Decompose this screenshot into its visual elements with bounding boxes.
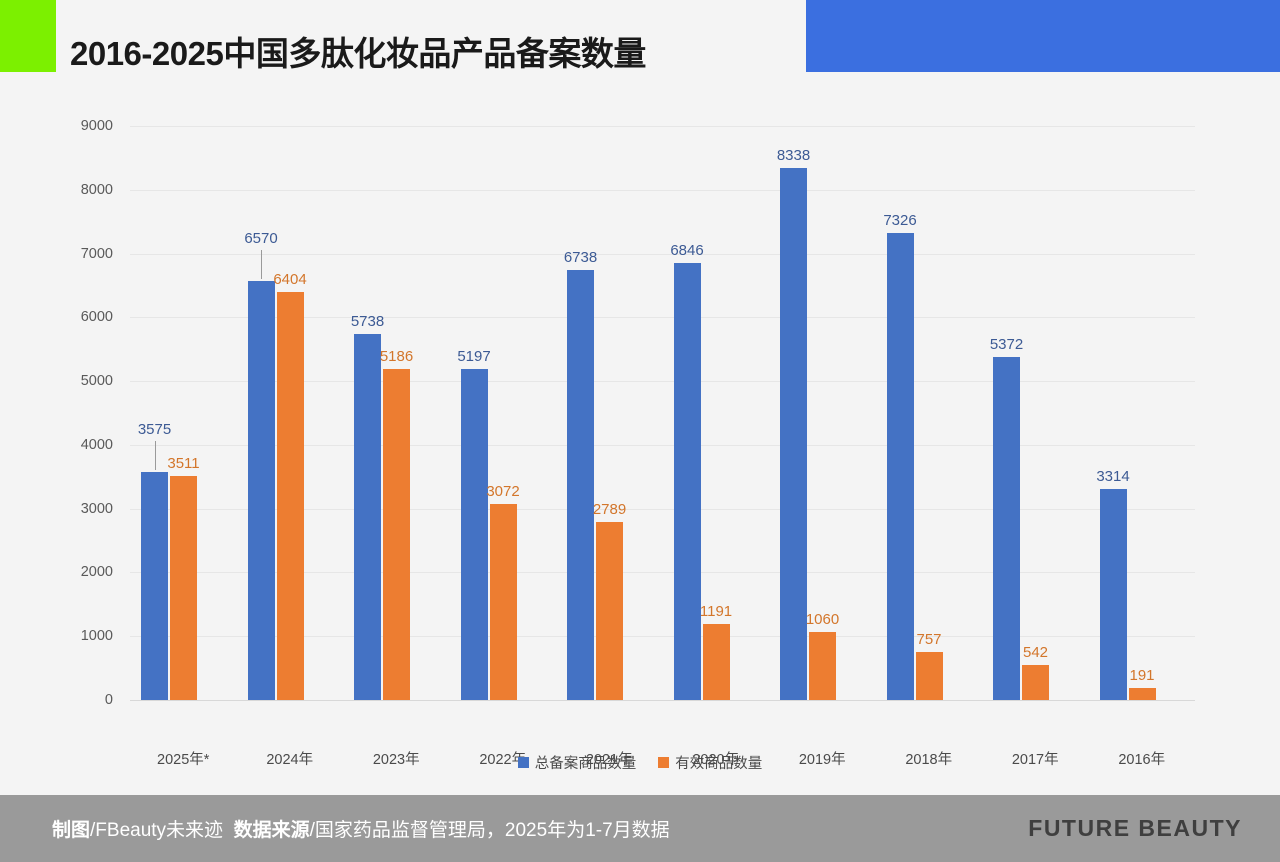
legend-swatch-icon: [658, 757, 669, 768]
bar-total[interactable]: [141, 472, 168, 700]
legend-label: 总备案商品数量: [535, 752, 637, 773]
data-label-total: 5372: [990, 336, 1023, 353]
bar-valid[interactable]: [1022, 665, 1049, 700]
header: 2016-2025中国多肽化妆品产品备案数量: [0, 0, 1280, 86]
y-axis-tick-label: 2000: [53, 564, 113, 580]
y-axis-tick-label: 4000: [53, 437, 113, 453]
data-label-leader-line: [155, 441, 156, 470]
bar-total[interactable]: [887, 233, 914, 700]
data-label-total: 5738: [351, 313, 384, 330]
bar-total[interactable]: [780, 168, 807, 700]
bar-group: [450, 126, 557, 700]
data-label-total: 3575: [138, 421, 171, 438]
bar-valid[interactable]: [809, 632, 836, 700]
footer-credit-value: /FBeauty未来迹: [90, 820, 223, 841]
header-blue-accent-block: [806, 0, 1280, 72]
y-axis-tick-label: 5000: [53, 373, 113, 389]
footer-brand-logo: FUTURE BEAUTY: [1028, 815, 1242, 842]
bar-group: [556, 126, 663, 700]
data-label-valid: 757: [916, 631, 941, 648]
bar-group: [1089, 126, 1196, 700]
bar-group: [982, 126, 1089, 700]
chart-area: 9000800070006000500040003000200010000 35…: [0, 86, 1280, 795]
y-axis-tick-label: 1000: [53, 628, 113, 644]
bar-total[interactable]: [1100, 489, 1127, 700]
bar-series-container: 3575351165706404573851865197307267382789…: [130, 126, 1195, 700]
header-green-accent-block: [0, 0, 56, 72]
data-label-valid: 1191: [700, 603, 732, 620]
data-label-valid: 6404: [273, 271, 306, 288]
data-label-valid: 191: [1129, 667, 1154, 684]
data-label-total: 6738: [564, 249, 597, 266]
gridline: [130, 700, 1195, 701]
footer-credit-text: 制图/FBeauty未来迹 数据来源/国家药品监督管理局，2025年为1-7月数…: [52, 815, 670, 842]
bar-valid[interactable]: [1129, 688, 1156, 700]
footer-credit-label: 制图: [52, 820, 90, 841]
data-label-valid: 542: [1023, 644, 1048, 661]
footer: 制图/FBeauty未来迹 数据来源/国家药品监督管理局，2025年为1-7月数…: [0, 795, 1280, 862]
bar-total[interactable]: [993, 357, 1020, 700]
legend-item[interactable]: 总备案商品数量: [518, 752, 637, 773]
data-label-valid: 3072: [486, 483, 519, 500]
data-label-valid: 2789: [593, 501, 626, 518]
data-label-total: 5197: [457, 348, 490, 365]
data-label-valid: 1060: [806, 611, 839, 628]
data-label-total: 7326: [883, 212, 916, 229]
footer-source-label: 数据来源: [234, 820, 310, 841]
bar-valid[interactable]: [703, 624, 730, 700]
bar-valid[interactable]: [916, 652, 943, 700]
data-label-valid: 3511: [167, 455, 199, 472]
chart-legend: 总备案商品数量有效商品数量: [0, 752, 1280, 773]
legend-swatch-icon: [518, 757, 529, 768]
data-label-total: 8338: [777, 147, 810, 164]
bar-total[interactable]: [674, 263, 701, 700]
bar-total[interactable]: [461, 369, 488, 700]
bar-valid[interactable]: [383, 369, 410, 700]
y-axis-tick-label: 3000: [53, 501, 113, 517]
bar-group: [130, 126, 237, 700]
y-axis-tick-label: 7000: [53, 246, 113, 262]
legend-item[interactable]: 有效商品数量: [658, 752, 762, 773]
data-label-total: 6570: [244, 230, 277, 247]
bar-valid[interactable]: [170, 476, 197, 700]
bar-group: [237, 126, 344, 700]
data-label-leader-line: [261, 250, 262, 279]
y-axis-tick-label: 6000: [53, 309, 113, 325]
bar-group: [343, 126, 450, 700]
data-label-total: 6846: [670, 242, 703, 259]
bar-valid[interactable]: [490, 504, 517, 700]
bar-valid[interactable]: [277, 292, 304, 700]
page-title: 2016-2025中国多肽化妆品产品备案数量: [70, 27, 646, 75]
chart-page: 2016-2025中国多肽化妆品产品备案数量 90008000700060005…: [0, 0, 1280, 862]
bar-total[interactable]: [248, 281, 275, 700]
bar-total[interactable]: [354, 334, 381, 700]
plot-region: 9000800070006000500040003000200010000 35…: [130, 126, 1195, 700]
footer-source-value: /国家药品监督管理局，2025年为1-7月数据: [310, 820, 670, 841]
bar-total[interactable]: [567, 270, 594, 700]
legend-label: 有效商品数量: [675, 752, 762, 773]
y-axis-tick-label: 0: [53, 692, 113, 708]
data-label-total: 3314: [1096, 468, 1129, 485]
data-label-valid: 5186: [380, 348, 413, 365]
y-axis-tick-label: 8000: [53, 182, 113, 198]
y-axis-tick-label: 9000: [53, 118, 113, 134]
bar-valid[interactable]: [596, 522, 623, 700]
